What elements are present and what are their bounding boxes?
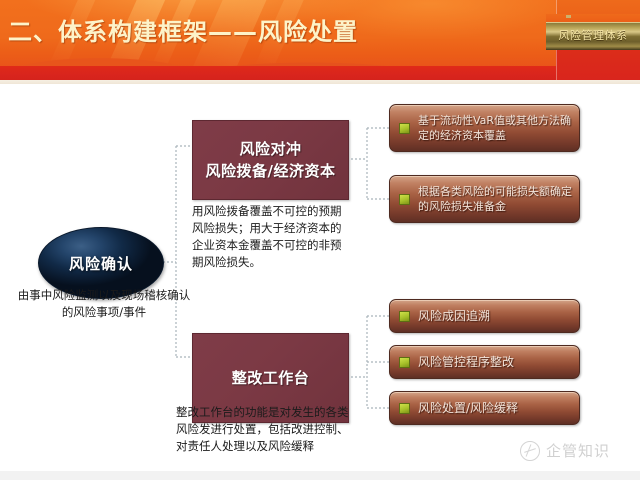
bullet-square-icon — [399, 311, 410, 322]
node-economic-capital-coverage[interactable]: 基于流动性VaR值或其他方法确定的经济资本覆盖 — [389, 104, 580, 152]
corner-badge-label: 风险管理体系 — [559, 30, 628, 42]
node-risk-confirmation-label: 风险确认 — [69, 253, 133, 274]
node-risk-loss-reserve[interactable]: 根据各类风险的可能损失额确定的风险损失准备金 — [389, 175, 580, 223]
node-rectification-workbench-label: 整改工作台 — [232, 367, 310, 389]
bullet-square-icon — [399, 123, 410, 134]
node-risk-cause-tracing-label: 风险成因追溯 — [418, 309, 490, 324]
node-risk-hedge[interactable]: 风险对冲 风险拨备/经济资本 — [192, 120, 349, 200]
node-risk-loss-reserve-label: 根据各类风险的可能损失额确定的风险损失准备金 — [418, 184, 579, 214]
node-risk-disposal-mitigation-label: 风险处置/风险缓释 — [418, 401, 518, 416]
watermark: 企管知识 — [520, 440, 610, 461]
node-control-procedure-rectification[interactable]: 风险管控程序整改 — [389, 345, 580, 379]
header-red-band — [0, 66, 640, 80]
corner-badge: 风险管理体系 — [546, 22, 640, 50]
node-risk-hedge-line-1: 风险对冲 — [239, 138, 301, 160]
corner-badge-dot — [566, 15, 571, 18]
watermark-label: 企管知识 — [546, 440, 610, 461]
note-risk-confirmation: 由事中风险监测以及现场稽核确认的风险事项/事件 — [16, 287, 192, 321]
bullet-square-icon — [399, 357, 410, 368]
node-risk-cause-tracing[interactable]: 风险成因追溯 — [389, 299, 580, 333]
node-risk-hedge-line-2: 风险拨备/经济资本 — [206, 160, 336, 182]
note-risk-hedge: 用风险拨备覆盖不可控的预期风险损失；用大于经济资本的企业资本金覆盖不可控的非预期… — [192, 203, 352, 271]
corner-badge-tab — [546, 14, 640, 22]
bullet-square-icon — [399, 403, 410, 414]
node-control-procedure-rectification-label: 风险管控程序整改 — [418, 355, 514, 370]
globe-icon — [520, 441, 540, 461]
note-rectification-workbench: 整改工作台的功能是对发生的各类风险发进行处置，包括改进控制、对责任人处理以及风险… — [176, 404, 356, 455]
node-risk-disposal-mitigation[interactable]: 风险处置/风险缓释 — [389, 391, 580, 425]
bullet-square-icon — [399, 194, 410, 205]
footer-strip — [0, 471, 640, 480]
slide-canvas: 二、体系构建框架——风险处置 风险管理体系 风险 — [0, 0, 640, 480]
page-title: 二、体系构建框架——风险处置 — [8, 17, 358, 47]
node-economic-capital-coverage-label: 基于流动性VaR值或其他方法确定的经济资本覆盖 — [418, 113, 579, 143]
